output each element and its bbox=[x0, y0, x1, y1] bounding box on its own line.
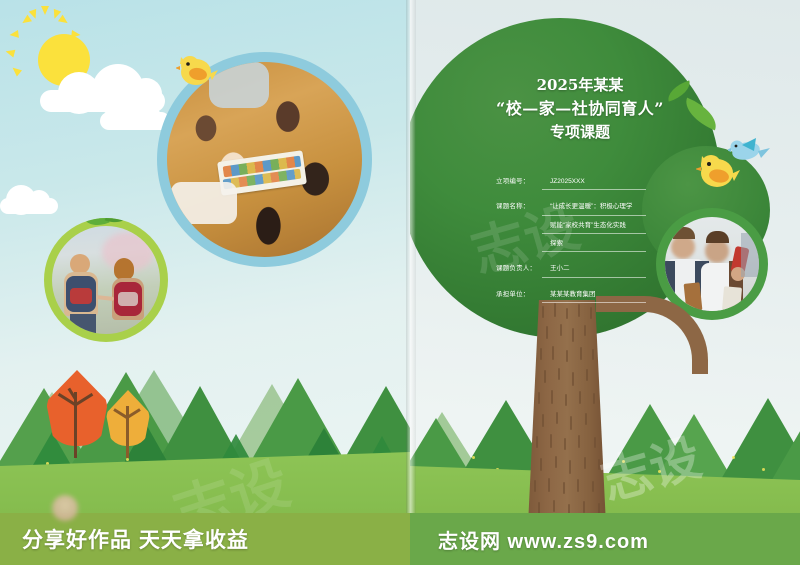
form-row-values: “让成长更温暖”：积极心理学赋能“家校共育”生态化实践探索 bbox=[542, 201, 646, 256]
project-info-form: 立项编号：JZ2025XXX课题名称：“让成长更温暖”：积极心理学赋能“家校共育… bbox=[496, 176, 646, 314]
form-row: 课题负责人：王小二 bbox=[496, 263, 646, 281]
title-line-1: 2025年某某 bbox=[460, 74, 700, 97]
form-row: 承担单位：某某某教育集团 bbox=[496, 289, 646, 307]
promo-banner-left-text: 分享好作品 天天拿收益 bbox=[22, 524, 249, 554]
promo-banner-right-text: 志设网 www.zs9.com bbox=[438, 525, 649, 554]
cloud-icon bbox=[0, 198, 58, 214]
photo-students-backpacks bbox=[44, 218, 168, 342]
promo-banner-left[interactable]: 分享好作品 天天拿收益 bbox=[0, 513, 410, 565]
trunk-bark-texture bbox=[528, 300, 606, 525]
bird-yellow-left bbox=[176, 52, 218, 95]
form-row-label: 课题负责人： bbox=[496, 263, 542, 275]
left-page bbox=[0, 0, 410, 565]
title-line-3: 专项课题 bbox=[460, 121, 700, 144]
form-row-value[interactable]: “让成长更温暖”：积极心理学 bbox=[542, 201, 646, 215]
form-row-value[interactable]: 某某某教育集团 bbox=[542, 289, 646, 303]
form-row-values: JZ2025XXX bbox=[542, 176, 646, 194]
form-row-values: 某某某教育集团 bbox=[542, 289, 646, 307]
cover-title: 2025年某某 “校—家—社协同育人” 专项课题 bbox=[460, 74, 700, 143]
form-row-label: 立项编号： bbox=[496, 176, 542, 188]
form-row: 课题名称：“让成长更温暖”：积极心理学赋能“家校共育”生态化实践探索 bbox=[496, 201, 646, 256]
right-page: 2025年某某 “校—家—社协同育人” 专项课题 立项编号：JZ2025XXX课… bbox=[410, 0, 800, 565]
form-row-value[interactable]: 赋能“家校共育”生态化实践 bbox=[542, 220, 646, 234]
mountain bbox=[766, 414, 800, 490]
form-row-value[interactable]: JZ2025XXX bbox=[542, 176, 646, 190]
form-row-label: 课题名称： bbox=[496, 201, 542, 213]
title-line-2: “校—家—社协同育人” bbox=[460, 97, 700, 121]
form-row-label: 承担单位： bbox=[496, 289, 542, 301]
cloud-icon bbox=[100, 112, 170, 130]
form-row-values: 王小二 bbox=[542, 263, 646, 281]
promo-banner-right[interactable]: 志设网 www.zs9.com bbox=[410, 513, 800, 565]
bird-blue-flying bbox=[728, 135, 770, 170]
form-row-value[interactable]: 探索 bbox=[542, 238, 646, 252]
cover-spread: 2025年某某 “校—家—社协同育人” 专项课题 立项编号：JZ2025XXX课… bbox=[0, 0, 800, 565]
form-row: 立项编号：JZ2025XXX bbox=[496, 176, 646, 194]
avatar bbox=[52, 495, 78, 521]
form-row-value[interactable]: 王小二 bbox=[542, 263, 646, 277]
